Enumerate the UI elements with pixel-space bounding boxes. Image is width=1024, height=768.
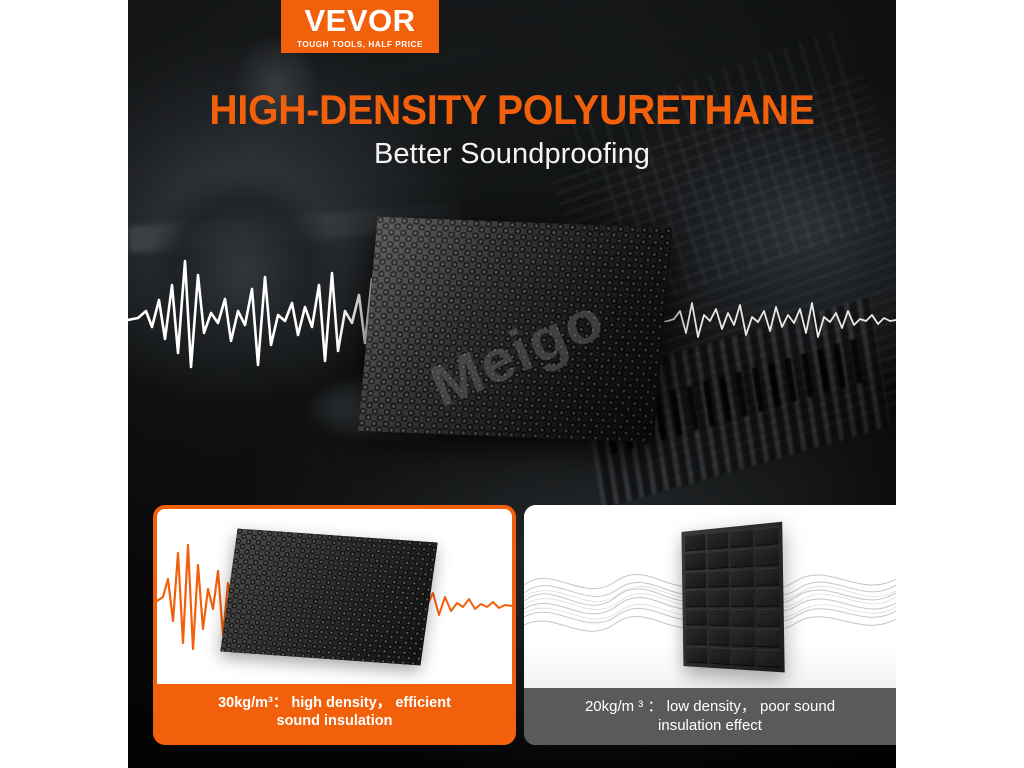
grid-cell [731, 609, 754, 627]
product-infographic: HIGH-DENSITY POLYURETHANE Better Soundpr… [0, 0, 1024, 768]
logo-wordmark: VEVOR [304, 5, 415, 36]
high-density-caption-line1: 30kg/m³： high density， efficient [218, 695, 451, 711]
low-density-caption: 20kg/m ³ ： low density， poor sound insul… [524, 688, 896, 745]
low-density-caption-line1: 20kg/m ³ ： low density， poor sound [585, 698, 835, 715]
grid-cell [685, 533, 706, 551]
grid-cell [707, 570, 729, 588]
grid-cell [754, 526, 778, 546]
grid-cell [730, 569, 753, 588]
grid-cell [755, 588, 779, 607]
grid-cell [730, 529, 753, 549]
grid-cell [732, 648, 755, 667]
high-density-illustration [157, 509, 512, 688]
grid-cell [686, 646, 707, 664]
high-density-caption-line2: sound insulation [277, 713, 393, 729]
comparison-card-low-density: 20kg/m ³ ： low density， poor sound insul… [524, 505, 896, 745]
grid-cell [755, 547, 779, 567]
grid-cell [708, 589, 730, 607]
grid-cell [685, 571, 706, 589]
grid-cell [756, 629, 780, 648]
hero-foam-panel: Meigo [358, 217, 673, 442]
grid-cell [708, 609, 730, 626]
grid-cell [731, 628, 754, 646]
high-density-foam-slab [220, 529, 437, 666]
low-density-caption-line2: insulation effect [658, 717, 762, 734]
grid-cell [755, 567, 779, 586]
low-density-grid-slab [681, 522, 784, 673]
grid-cell [731, 589, 754, 607]
grid-cell [686, 609, 707, 626]
grid-cell [756, 608, 780, 626]
hero-foam-sheen [358, 217, 673, 442]
grid-cell [707, 551, 729, 570]
logo-tagline: TOUGH TOOLS, HALF PRICE [297, 40, 423, 49]
grid-cell [708, 647, 730, 665]
grid-cell [730, 549, 753, 568]
low-density-illustration [524, 505, 896, 688]
hero-canvas: HIGH-DENSITY POLYURETHANE Better Soundpr… [128, 0, 896, 768]
vevor-logo: VEVOR TOUGH TOOLS, HALF PRICE [281, 0, 439, 53]
page-subtitle: Better Soundproofing [128, 138, 896, 171]
comparison-section: 30kg/m³： high density， efficient sound i… [128, 505, 896, 745]
grid-cell [685, 552, 706, 570]
grid-cell [708, 628, 730, 646]
page-title: HIGH-DENSITY POLYURETHANE [155, 86, 869, 134]
grid-cell [686, 627, 707, 644]
grid-cell [756, 649, 780, 668]
grid-cell [686, 590, 707, 607]
high-density-caption: 30kg/m³： high density， efficient sound i… [157, 684, 512, 741]
comparison-card-high-density: 30kg/m³： high density， efficient sound i… [153, 505, 516, 745]
grid-cell [707, 531, 729, 550]
